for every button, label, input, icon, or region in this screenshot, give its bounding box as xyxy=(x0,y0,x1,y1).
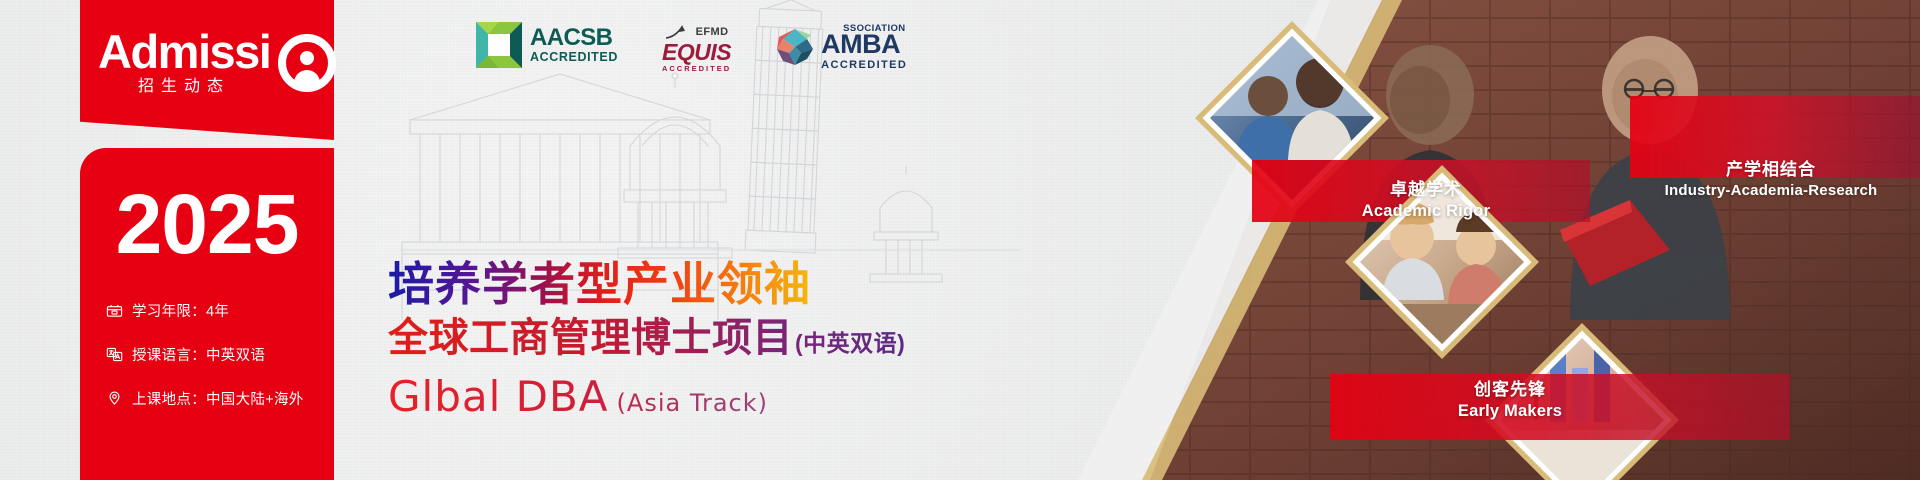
admission-banner: AACSB ACCREDITED EFMD EQUIS ACCREDITED xyxy=(0,0,1920,480)
badge-industry-academia-research: 产学相结合 Industry-Academia-Research xyxy=(1626,158,1916,200)
aacsb-logo: AACSB ACCREDITED xyxy=(476,22,618,68)
admission-logo: Admissi 招生动态 xyxy=(98,26,334,116)
headline-program-en-main: Glbal DBA xyxy=(388,369,609,425)
person-head-shape xyxy=(300,51,314,65)
badge-academic-rigor-en: Academic Rigor xyxy=(1276,201,1576,222)
headline-program-en: Glbal DBA (Asia Track) xyxy=(388,369,905,431)
info-row-duration: 学习年限：4年 xyxy=(106,300,336,321)
badge-early-makers-cn: 创客先锋 xyxy=(1360,378,1660,401)
program-info-list: 学习年限：4年 授课语言：中英双语 上课地点：中国大陆+海外 xyxy=(106,300,336,432)
person-body-shape xyxy=(294,70,320,85)
badge-industry-academia-research-en: Industry-Academia-Research xyxy=(1626,181,1916,200)
headline-block: 培养学者型产业领袖 全球工商管理博士项目 (中英双语) Glbal DBA (A… xyxy=(388,256,905,431)
equis-title: EQUIS xyxy=(662,40,731,64)
equis-subtitle: ACCREDITED xyxy=(662,64,731,73)
accreditation-logo-row: AACSB ACCREDITED EFMD EQUIS ACCREDITED xyxy=(476,22,907,73)
efmd-label: EFMD xyxy=(696,26,729,38)
language-icon xyxy=(106,346,123,363)
badge-early-makers-en: Early Makers xyxy=(1360,401,1660,422)
info-row-duration-text: 学习年限：4年 xyxy=(132,300,229,321)
headline-program-cn: 全球工商管理博士项目 (中英双语) xyxy=(388,312,905,369)
info-row-language-text: 授课语言：中英双语 xyxy=(132,344,265,365)
badge-industry-academia-research-cn: 产学相结合 xyxy=(1626,158,1916,181)
amba-logo: SSOCIATION AMBA ACCREDITED xyxy=(775,22,907,71)
aacsb-subtitle: ACCREDITED xyxy=(530,50,618,65)
efmd-swoosh-icon xyxy=(665,24,691,40)
amba-diamond-icon xyxy=(775,27,815,67)
equis-logo: EFMD EQUIS ACCREDITED xyxy=(662,22,731,73)
photo-collage: 卓越学术 Academic Rigor 产学相结合 Industry-Acade… xyxy=(1030,0,1920,480)
amba-subtitle: ACCREDITED xyxy=(821,59,907,71)
headline-slogan: 培养学者型产业领袖 xyxy=(388,256,905,312)
info-row-language: 授课语言：中英双语 xyxy=(106,344,336,365)
headline-program-en-sub: (Asia Track) xyxy=(617,375,768,431)
info-row-location: 上课地点：中国大陆+海外 xyxy=(106,388,336,409)
admission-logo-word: Admissi xyxy=(98,26,270,78)
headline-program-cn-main: 全球工商管理博士项目 xyxy=(388,312,793,364)
badge-academic-rigor: 卓越学术 Academic Rigor xyxy=(1276,178,1576,222)
calendar-icon xyxy=(106,302,123,319)
amba-association-label: SSOCIATION xyxy=(843,23,905,34)
admission-year: 2025 xyxy=(80,176,334,272)
aacsb-title: AACSB xyxy=(530,26,618,50)
admission-logo-chinese: 招生动态 xyxy=(138,72,230,96)
left-red-panel: Admissi 招生动态 2025 学习年限：4年 xyxy=(80,0,334,480)
badge-early-makers: 创客先锋 Early Makers xyxy=(1360,378,1660,422)
aacsb-mark-icon xyxy=(476,22,522,68)
badge-academic-rigor-cn: 卓越学术 xyxy=(1276,178,1576,201)
info-row-location-text: 上课地点：中国大陆+海外 xyxy=(132,388,304,409)
person-in-circle-icon xyxy=(278,34,336,92)
location-pin-icon xyxy=(106,390,123,407)
headline-program-cn-sub: (中英双语) xyxy=(795,317,905,369)
